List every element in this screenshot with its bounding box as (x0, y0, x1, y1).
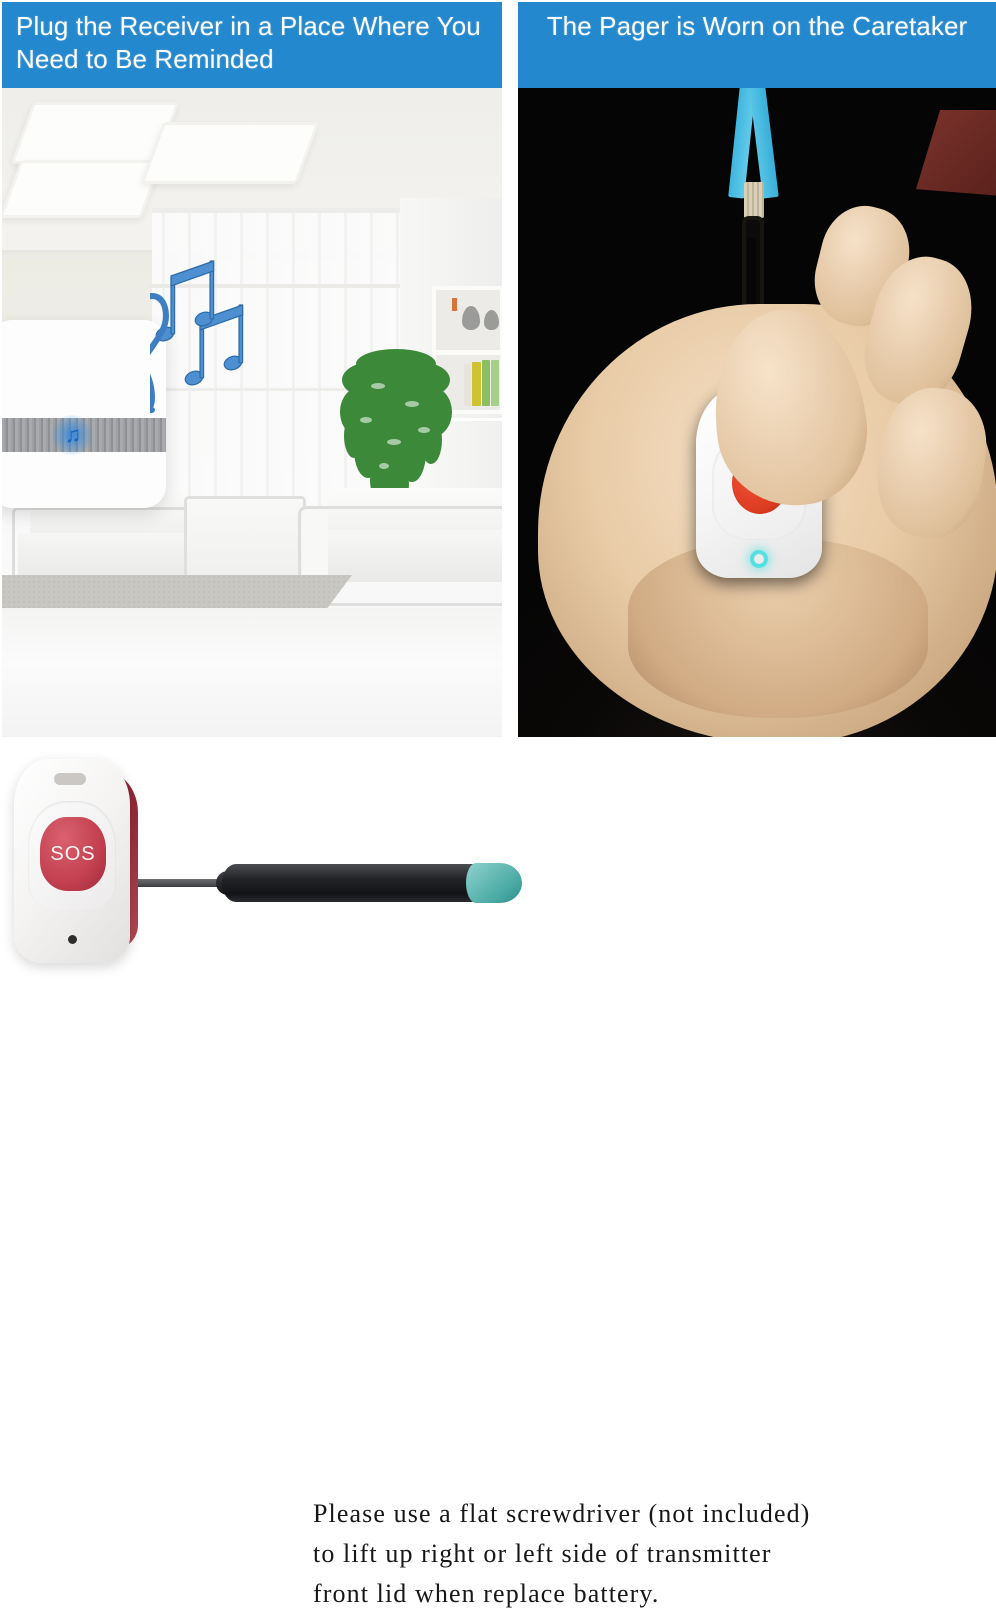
banner-left: Plug the Receiver in a Place Where You N… (2, 2, 502, 88)
flat-screwdriver (118, 861, 518, 907)
wireless-receiver-device: ♫ (2, 320, 166, 508)
banner-right: The Pager is Worn on the Caretaker (518, 2, 996, 88)
panel-left-receiver: Plug the Receiver in a Place Where You N… (2, 2, 502, 737)
curtain-rod (152, 208, 414, 213)
music-notes-icon (150, 248, 300, 423)
background-brown-object (916, 110, 996, 196)
shelf-book-1 (464, 364, 471, 406)
bottom-instruction-section: SOS Please use a flat screwdriver (not i… (0, 737, 996, 978)
transmitter-device: SOS (14, 749, 146, 965)
transmitter-body: SOS (14, 759, 130, 963)
screwdriver-handle (222, 864, 484, 902)
floor (2, 608, 502, 737)
ceiling-lamp-panel-3 (141, 122, 320, 184)
shelf-book-4 (491, 360, 499, 406)
transmitter-top-slot (54, 773, 86, 785)
lanyard-metal-crimp (744, 182, 764, 218)
shelf-ornament-2 (484, 310, 499, 330)
living-room-photo: ♫ (2, 88, 502, 737)
instruction-caption: Please use a flat screwdriver (not inclu… (313, 1494, 973, 1614)
lanyard-strap (716, 88, 788, 216)
panel-right-pager: The Pager is Worn on the Caretaker (518, 2, 996, 737)
shelf-book-3 (482, 360, 490, 406)
shelf-book-2 (472, 362, 481, 406)
shelf-orange-marker (452, 298, 457, 311)
pager-photo (518, 88, 996, 737)
ceiling-lamp-panel-2 (2, 160, 163, 218)
transmitter-sos-button[interactable]: SOS (40, 817, 106, 891)
banner-right-text: The Pager is Worn on the Caretaker (518, 10, 996, 43)
screwdriver-end-cap (466, 863, 522, 903)
transmitter-sos-label: SOS (50, 843, 95, 866)
music-note-icon: ♫ (61, 420, 85, 450)
transmitter-led (68, 935, 77, 944)
banner-left-text: Plug the Receiver in a Place Where You N… (2, 10, 502, 77)
shelf-ornament-1 (462, 306, 480, 330)
pager-led-indicator (750, 550, 768, 568)
